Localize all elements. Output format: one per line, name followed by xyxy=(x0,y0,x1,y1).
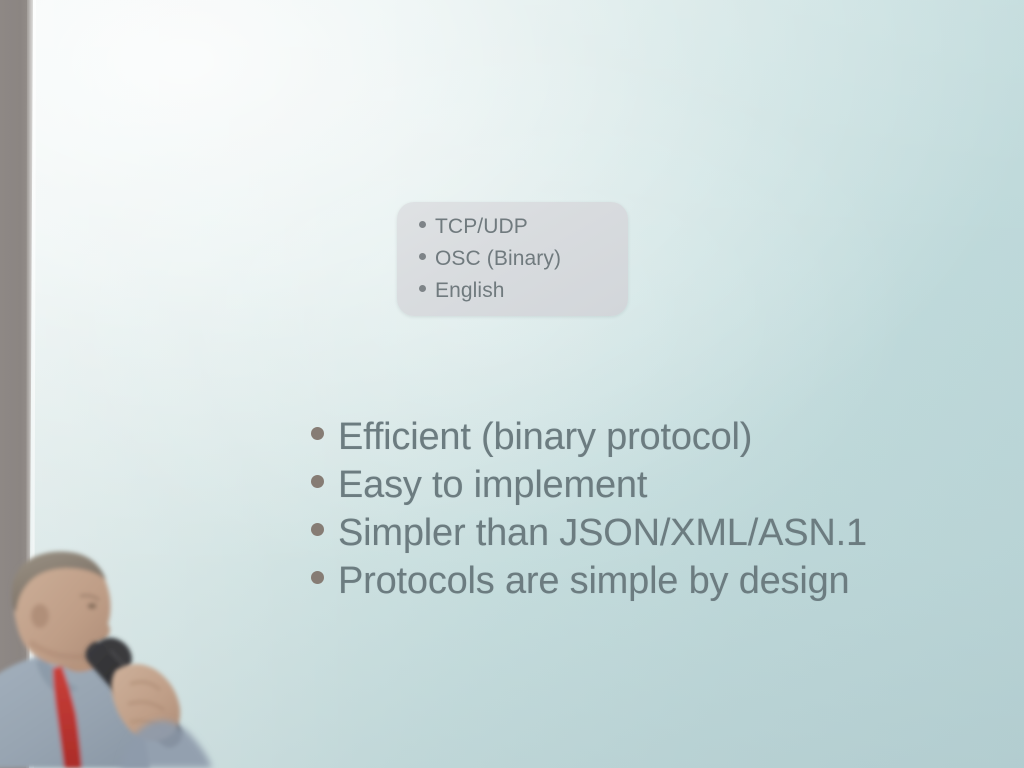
protocol-stack-callout: TCP/UDP OSC (Binary) English xyxy=(397,202,628,316)
slide-photo-scene: TCP/UDP OSC (Binary) English Efficient (… xyxy=(0,0,1024,768)
bullet-dot-icon xyxy=(311,475,324,488)
list-item: Easy to implement xyxy=(311,461,867,509)
bullet-dot-icon xyxy=(311,571,324,584)
main-item-label: Protocols are simple by design xyxy=(338,557,849,605)
callout-item-label: English xyxy=(435,275,505,307)
main-item-label: Simpler than JSON/XML/ASN.1 xyxy=(338,509,867,557)
bullet-dot-icon xyxy=(419,221,426,228)
bullet-dot-icon xyxy=(419,285,426,292)
main-item-label: Easy to implement xyxy=(338,461,647,509)
list-item: Simpler than JSON/XML/ASN.1 xyxy=(311,509,867,557)
callout-item-label: OSC (Binary) xyxy=(435,243,561,275)
list-item: Efficient (binary protocol) xyxy=(311,413,867,461)
main-item-label: Efficient (binary protocol) xyxy=(338,413,752,461)
bullet-dot-icon xyxy=(311,523,324,536)
callout-item-label: TCP/UDP xyxy=(435,211,528,243)
bullet-dot-icon xyxy=(419,253,426,260)
projection-surface xyxy=(0,0,1024,768)
callout-bullet-list: TCP/UDP OSC (Binary) English xyxy=(419,211,561,307)
benefits-bullet-list: Efficient (binary protocol) Easy to impl… xyxy=(311,413,867,605)
list-item: Protocols are simple by design xyxy=(311,557,867,605)
list-item: TCP/UDP xyxy=(419,211,561,243)
bullet-dot-icon xyxy=(311,427,324,440)
wall-edge-strip xyxy=(0,0,33,768)
list-item: OSC (Binary) xyxy=(419,243,561,275)
list-item: English xyxy=(419,275,561,307)
